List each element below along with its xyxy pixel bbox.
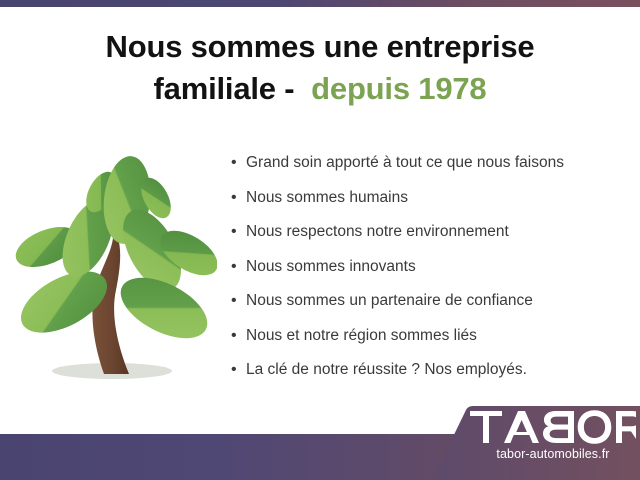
list-item: • Nous respectons notre environnement [231,221,631,256]
list-item: • La clé de notre réussite ? Nos employé… [231,359,631,394]
bullet-marker-icon: • [231,256,246,277]
page-title: Nous sommes une entreprise familiale - d… [0,26,640,110]
brand-url: tabor-automobiles.fr [466,446,640,462]
list-item: • Grand soin apporté à tout ce que nous … [231,152,631,187]
list-item: • Nous sommes un partenaire de confiance [231,290,631,325]
bullet-marker-icon: • [231,325,246,346]
list-item-label: Grand soin apporté à tout ce que nous fa… [246,152,564,173]
brand-wordmark [466,409,640,445]
brand-logo: tabor-automobiles.fr [466,409,640,462]
bullet-marker-icon: • [231,187,246,208]
list-item-label: La clé de notre réussite ? Nos employés. [246,359,527,380]
list-item-label: Nous et notre région sommes liés [246,325,477,346]
bullet-marker-icon: • [231,221,246,242]
list-item: • Nous sommes humains [231,187,631,222]
heading-accent: depuis 1978 [294,71,486,106]
slide-canvas: Nous sommes une entreprise familiale - d… [0,0,640,480]
heading-line-2: familiale - depuis 1978 [0,68,640,110]
list-item-label: Nous respectons notre environnement [246,221,509,242]
list-item: • Nous sommes innovants [231,256,631,291]
heading-line-1: Nous sommes une entreprise [0,26,640,68]
list-item-label: Nous sommes innovants [246,256,416,277]
list-item-label: Nous sommes un partenaire de confiance [246,290,533,311]
tree-icon [12,150,217,388]
top-accent-bar [0,0,640,7]
list-item-label: Nous sommes humains [246,187,408,208]
list-item: • Nous et notre région sommes liés [231,325,631,360]
bullet-marker-icon: • [231,152,246,173]
bullet-marker-icon: • [231,359,246,380]
bullet-marker-icon: • [231,290,246,311]
heading-line-2-plain: familiale - [154,71,295,106]
benefits-list: • Grand soin apporté à tout ce que nous … [231,152,631,394]
